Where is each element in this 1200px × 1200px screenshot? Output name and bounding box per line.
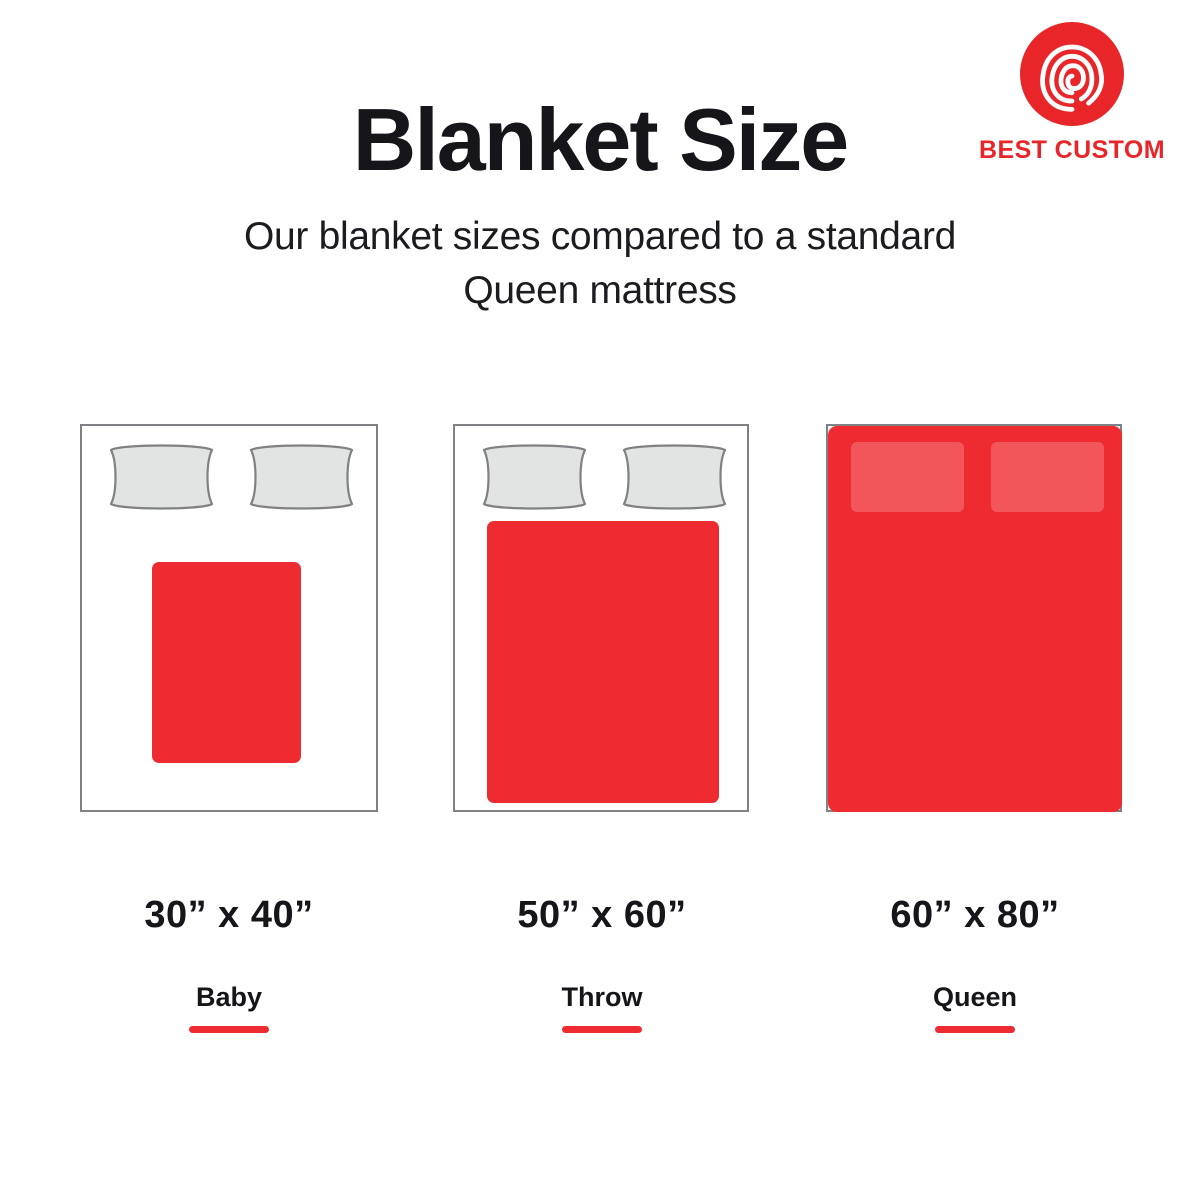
pillow-icon <box>991 442 1104 512</box>
size-name-label: Queen <box>805 984 1145 1011</box>
page-title: Blanket Size <box>0 96 1200 184</box>
accent-underline <box>189 1026 269 1033</box>
bed-diagram-queen <box>826 424 1122 812</box>
pillow-icon <box>478 442 591 512</box>
blanket-swatch-queen <box>828 426 1122 812</box>
size-name-label: Baby <box>59 984 399 1011</box>
page-subtitle: Our blanket sizes compared to a standard… <box>220 210 980 318</box>
caption-row: 30” x 40” Baby 50” x 60” Throw 60” x 80”… <box>0 896 1200 1046</box>
header: Blanket Size Our blanket sizes compared … <box>0 96 1200 318</box>
accent-underline <box>935 1026 1015 1033</box>
dimensions-label: 60” x 80” <box>805 896 1145 934</box>
pillow-icon <box>851 442 964 512</box>
pillow-icon <box>105 442 218 512</box>
bed-comparison-row <box>0 424 1200 814</box>
blanket-swatch-baby <box>152 562 301 763</box>
caption-baby: 30” x 40” Baby <box>59 896 399 1033</box>
blanket-swatch-throw <box>487 521 719 803</box>
size-name-label: Throw <box>432 984 772 1011</box>
bed-diagram-throw <box>453 424 749 812</box>
caption-queen: 60” x 80” Queen <box>805 896 1145 1033</box>
caption-throw: 50” x 60” Throw <box>432 896 772 1033</box>
pillow-icon <box>245 442 358 512</box>
accent-underline <box>562 1026 642 1033</box>
dimensions-label: 30” x 40” <box>59 896 399 934</box>
bed-diagram-baby <box>80 424 378 812</box>
dimensions-label: 50” x 60” <box>432 896 772 934</box>
pillow-icon <box>618 442 731 512</box>
